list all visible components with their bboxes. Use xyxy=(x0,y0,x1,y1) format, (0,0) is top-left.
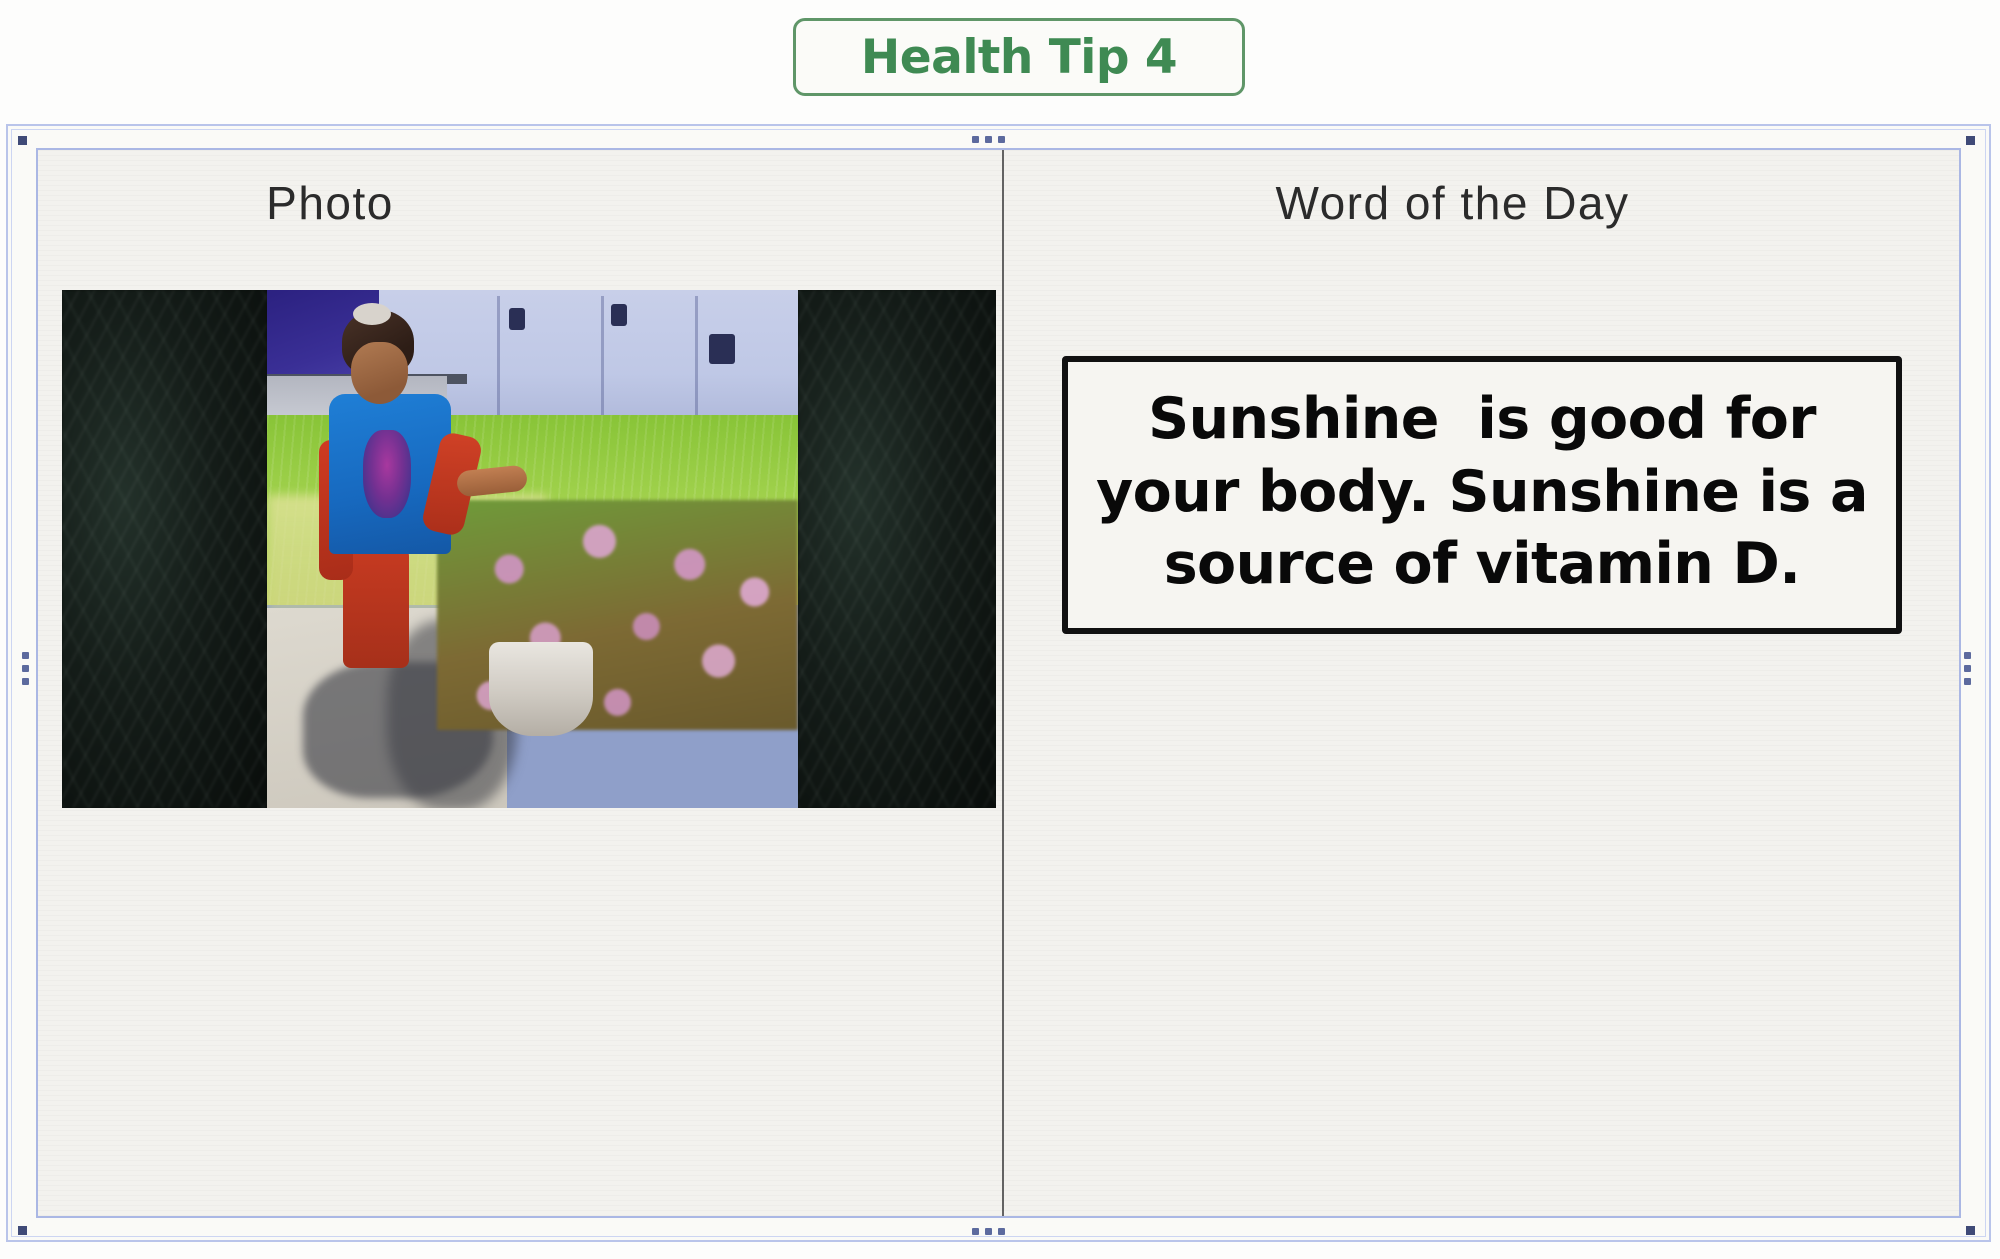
photo-child-hair-tie xyxy=(353,303,391,325)
column-header-word-of-the-day: Word of the Day xyxy=(1004,176,1961,230)
resize-handle-top-center[interactable] xyxy=(972,136,1005,143)
column-word-of-the-day: Word of the Day Sunshine is good for you… xyxy=(1004,150,1961,1216)
word-of-the-day-text: Sunshine is good for your body. Sunshine… xyxy=(1094,383,1870,602)
word-of-the-day-box[interactable]: Sunshine is good for your body. Sunshine… xyxy=(1062,356,1902,634)
resize-handle-top-left[interactable] xyxy=(18,136,27,145)
photo-shirt-graphic xyxy=(363,430,411,518)
resize-handle-bottom-center[interactable] xyxy=(972,1228,1005,1235)
resize-handle-middle-right[interactable] xyxy=(1964,652,1971,685)
resize-handle-middle-left[interactable] xyxy=(22,652,29,685)
health-tip-title-badge[interactable]: Health Tip 4 xyxy=(793,18,1245,96)
page-title: Health Tip 4 xyxy=(861,30,1177,85)
resize-handle-bottom-right[interactable] xyxy=(1966,1226,1975,1235)
column-header-photo: Photo xyxy=(38,176,1002,230)
photo-child-face xyxy=(351,342,408,404)
resize-handle-top-right[interactable] xyxy=(1966,136,1975,145)
slide-page: Health Tip 4 Photo xyxy=(0,0,2000,1259)
photo-letterbox-right xyxy=(798,290,996,808)
photo-flower-pot xyxy=(489,642,593,736)
photo-image[interactable] xyxy=(62,290,996,808)
selection-frame[interactable]: Photo xyxy=(6,124,1991,1242)
resize-handle-bottom-left[interactable] xyxy=(18,1226,27,1235)
column-photo: Photo xyxy=(38,150,1002,1216)
slide-content-frame[interactable]: Photo xyxy=(36,148,1961,1218)
photo-content xyxy=(267,290,798,808)
photo-letterbox-left xyxy=(62,290,267,808)
